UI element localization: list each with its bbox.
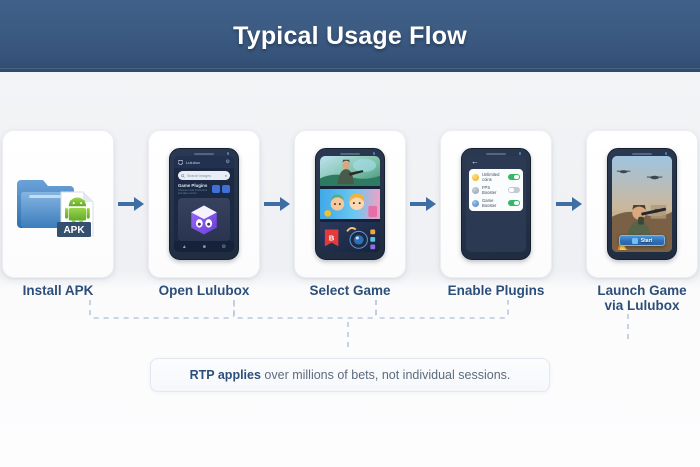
plugin-toggle[interactable]: [508, 200, 520, 207]
bottom-nav[interactable]: ▲ ■ ⚙: [174, 241, 234, 252]
step-select-game[interactable]: B: [294, 130, 406, 278]
gear-icon[interactable]: ⚙: [226, 160, 230, 165]
mic-icon[interactable]: ●: [225, 173, 227, 178]
speed-icon: [472, 187, 479, 194]
plugins-card: Unlimited coins FPS Booster Game Booster: [469, 169, 523, 211]
step-card-5[interactable]: Start: [586, 130, 698, 278]
phone-lulubox-app: Lulubox ⚙ Search images ● Game Plugin: [169, 148, 239, 260]
apps-icon[interactable]: ■: [203, 244, 206, 250]
step-card-3[interactable]: B: [294, 130, 406, 278]
lulubox-logo: [178, 198, 230, 241]
plugin-toggle[interactable]: [508, 187, 520, 194]
app-title: Lulubox: [186, 160, 200, 165]
svg-text:APK: APK: [63, 225, 85, 236]
start-button-label: Start: [641, 238, 652, 244]
coin-icon: [472, 174, 479, 181]
plugin-row-game-booster[interactable]: Game Booster: [472, 198, 520, 208]
dashed-connectors: [0, 296, 700, 366]
note-text: RTP applies over millions of bets, not i…: [190, 368, 511, 382]
step-install-apk[interactable]: APK: [2, 130, 114, 278]
plugin-toggle[interactable]: [508, 174, 520, 181]
step-launch-game[interactable]: Start: [586, 130, 698, 278]
search-placeholder: Search images: [187, 174, 211, 178]
phone-launch-game: Start: [607, 148, 677, 260]
phone-game-list: B: [315, 148, 385, 260]
plugin-chip-2[interactable]: [222, 185, 230, 193]
bingo-game-banner[interactable]: B: [320, 222, 380, 252]
step-open-lulubox[interactable]: Lulubox ⚙ Search images ● Game Plugin: [148, 130, 260, 278]
svg-text:B: B: [329, 234, 335, 243]
plugins-section-header: Game Plugins Choose mods & boosters and …: [178, 183, 230, 195]
step-card-4[interactable]: ← Unlimited coins FPS Booster: [440, 130, 552, 278]
start-button[interactable]: Start: [619, 235, 665, 246]
phone-plugins-list: ← Unlimited coins FPS Booster: [461, 148, 531, 260]
note-rest: over millions of bets, not individual se…: [261, 368, 510, 382]
arrow-right-icon-4: [552, 197, 586, 211]
app-titlebar: Lulubox ⚙: [174, 156, 234, 168]
step-card-2[interactable]: Lulubox ⚙ Search images ● Game Plugin: [148, 130, 260, 278]
step-card-1[interactable]: APK: [2, 130, 114, 278]
page-title: Typical Usage Flow: [233, 22, 467, 51]
plugin-label: Game Booster: [482, 198, 505, 208]
note-box: RTP applies over millions of bets, not i…: [150, 358, 550, 392]
rocket-icon: [472, 200, 479, 207]
flow-row: APK Lulubox ⚙: [0, 128, 700, 280]
plugin-row-unlimited-coins[interactable]: Unlimited coins: [472, 172, 520, 182]
shield-icon: [178, 160, 183, 165]
arrow-right-icon-1: [114, 197, 148, 211]
note-strong: RTP applies: [190, 368, 261, 382]
header-bar: Typical Usage Flow: [0, 0, 700, 72]
plugin-chip-1[interactable]: [212, 185, 220, 193]
plugin-label: FPS Booster: [482, 185, 505, 195]
plugin-label: Unlimited coins: [482, 172, 505, 182]
play-tile-icon: [632, 238, 638, 244]
apk-folder-icon: APK: [15, 164, 101, 244]
arrow-right-icon-3: [406, 197, 440, 211]
section-subtitle: Choose mods & boosters and take control: [178, 189, 210, 195]
home-icon[interactable]: ▲: [182, 244, 187, 250]
step-enable-plugins[interactable]: ← Unlimited coins FPS Booster: [440, 130, 552, 278]
match3-game-banner[interactable]: [320, 189, 380, 219]
plugin-row-fps-booster[interactable]: FPS Booster: [472, 185, 520, 195]
arrow-right-icon-2: [260, 197, 294, 211]
back-arrow-icon[interactable]: ←: [466, 156, 526, 168]
settings-icon[interactable]: ⚙: [222, 244, 226, 250]
shooter-game-banner[interactable]: [320, 156, 380, 186]
section-title: Game Plugins: [178, 183, 210, 188]
search-icon: [181, 174, 185, 178]
search-input[interactable]: Search images ●: [178, 171, 230, 180]
